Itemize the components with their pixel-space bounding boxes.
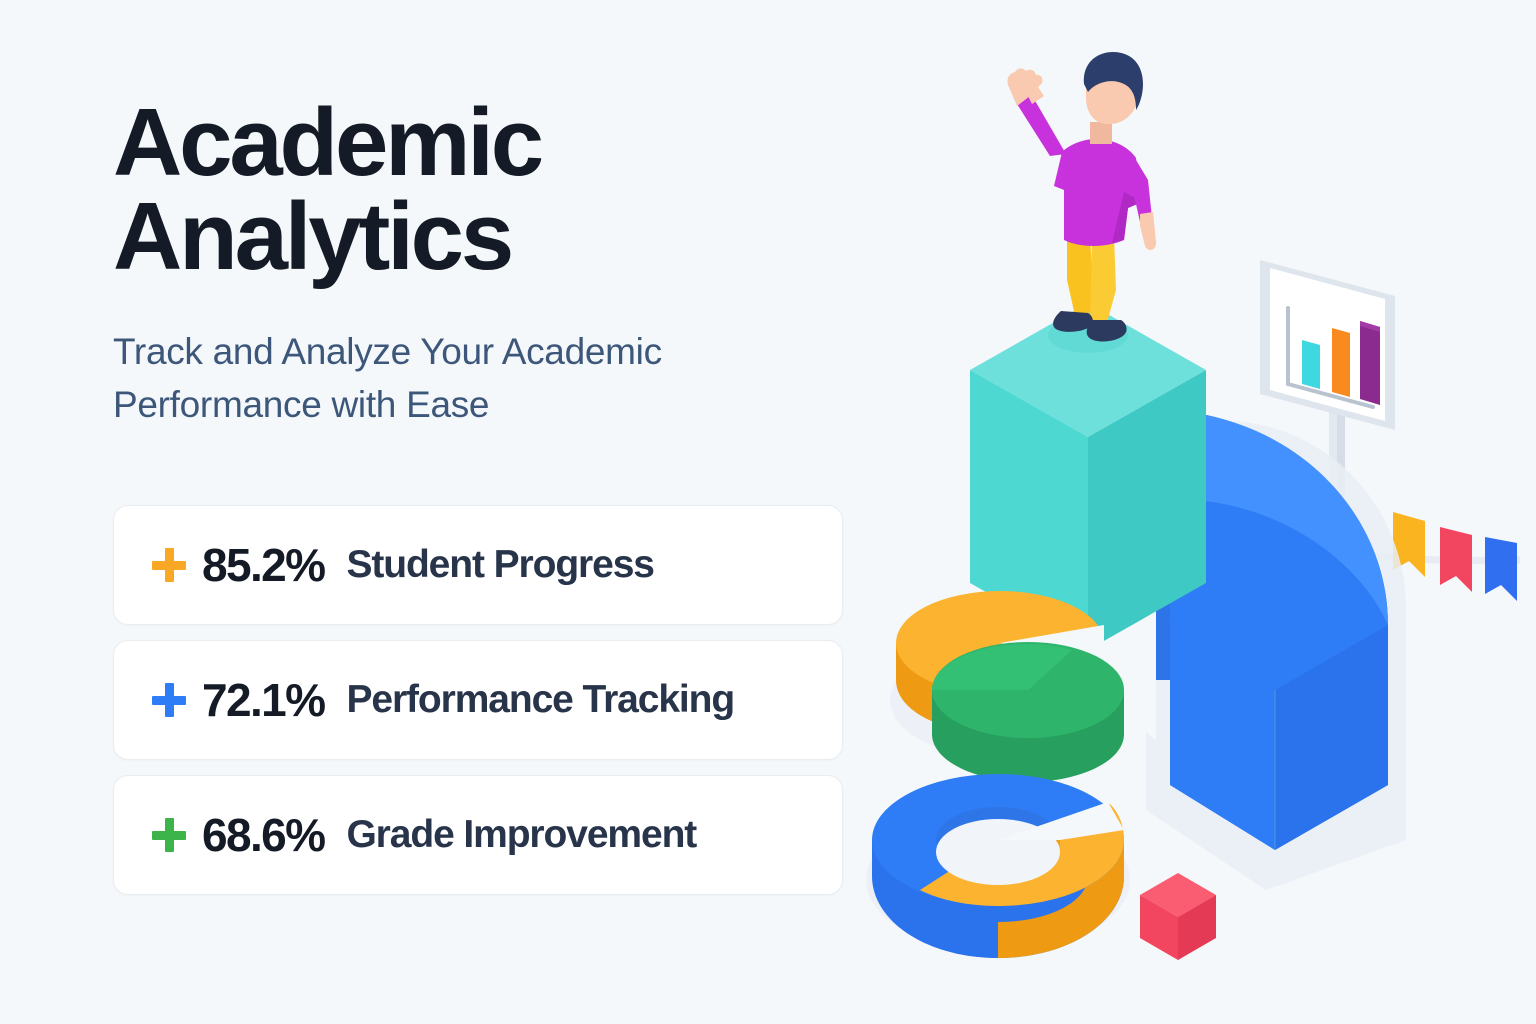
isometric-analytics-illustration xyxy=(840,40,1520,970)
stat-value: 85.2% xyxy=(202,538,324,592)
hero-text-column: Academic Analytics Track and Analyze You… xyxy=(113,96,873,431)
stat-card-list: 85.2% Student Progress 72.1% Performance… xyxy=(113,505,843,910)
plus-icon xyxy=(152,683,186,717)
stat-label: Performance Tracking xyxy=(346,678,734,722)
stat-card-grade-improvement[interactable]: 68.6% Grade Improvement xyxy=(113,775,843,895)
page-subtitle: Track and Analyze Your Academic Performa… xyxy=(113,326,873,431)
plus-icon xyxy=(152,548,186,582)
page-root: Academic Analytics Track and Analyze You… xyxy=(0,0,1536,1024)
page-title: Academic Analytics xyxy=(113,96,873,284)
stat-card-student-progress[interactable]: 85.2% Student Progress xyxy=(113,505,843,625)
pie-chart-orange-green xyxy=(890,591,1124,782)
stat-value: 68.6% xyxy=(202,808,324,862)
stat-label: Student Progress xyxy=(346,543,653,587)
red-cube xyxy=(1140,873,1216,960)
stat-card-performance-tracking[interactable]: 72.1% Performance Tracking xyxy=(113,640,843,760)
stat-value: 72.1% xyxy=(202,673,324,727)
plus-icon xyxy=(152,818,186,852)
donut-chart-blue-orange xyxy=(866,774,1130,958)
character-waving-icon xyxy=(1007,52,1156,353)
stat-label: Grade Improvement xyxy=(346,813,696,857)
